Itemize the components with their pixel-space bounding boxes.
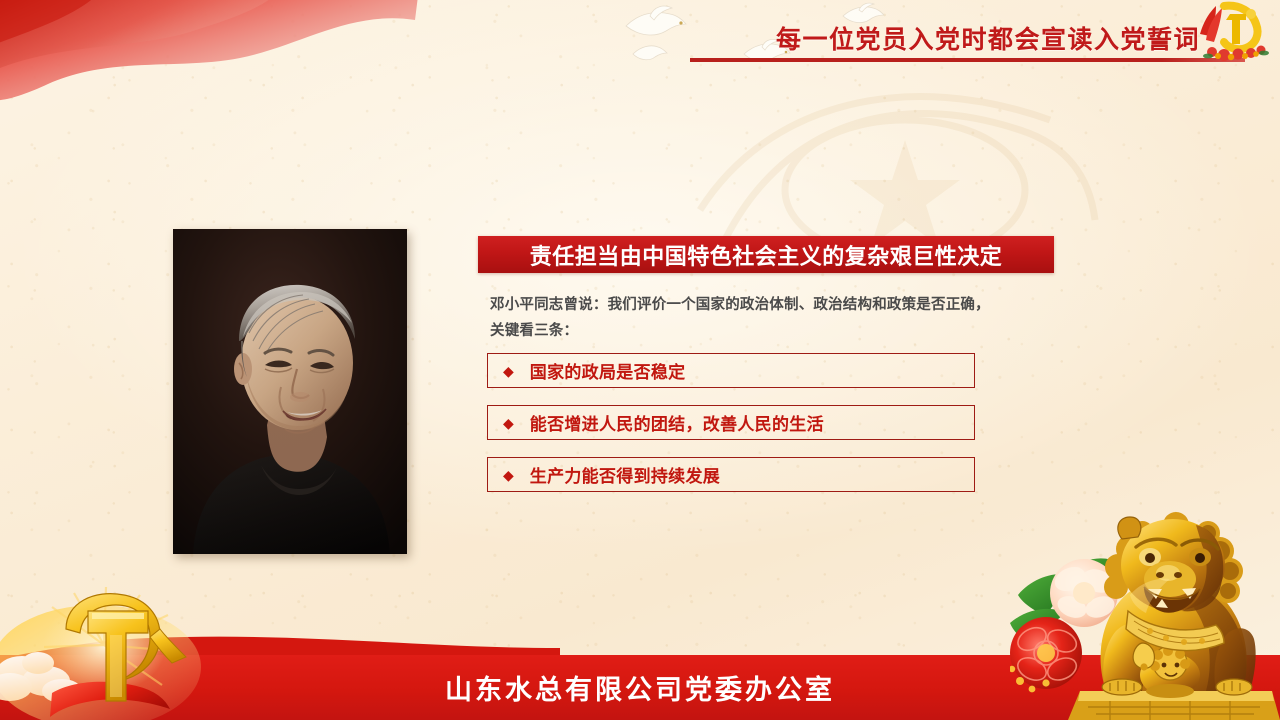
bullet-item[interactable]: ◆ 能否增进人民的团结，改善人民的生活 — [487, 405, 975, 440]
footer-organization-name: 山东水总有限公司党委办公室 — [0, 655, 1280, 720]
header-title: 每一位党员入党时都会宣读入党誓词 — [700, 20, 1200, 56]
white-dove-icon — [620, 2, 690, 44]
bullet-list: ◆ 国家的政局是否稳定 ◆ 能否增进人民的团结，改善人民的生活 ◆ 生产力能否得… — [487, 353, 975, 509]
body-paragraph: 邓小平同志曾说：我们评价一个国家的政治体制、政治结构和政策是否正确，关键看三条： — [490, 292, 990, 344]
diamond-bullet-icon: ◆ — [503, 364, 514, 378]
bullet-item[interactable]: ◆ 生产力能否得到持续发展 — [487, 457, 975, 492]
bullet-item[interactable]: ◆ 国家的政局是否稳定 — [487, 353, 975, 388]
party-emblem-icon — [1194, 0, 1272, 62]
section-title-text: 责任担当由中国特色社会主义的复杂艰巨性决定 — [530, 239, 1003, 271]
header-divider-rule — [690, 58, 1245, 62]
bullet-item-label: 国家的政局是否稳定 — [530, 358, 686, 383]
diamond-bullet-icon: ◆ — [503, 416, 514, 430]
bullet-item-label: 能否增进人民的团结，改善人民的生活 — [530, 410, 824, 435]
red-flag-wave-icon — [0, 0, 420, 150]
slide-canvas: 每一位党员入党时都会宣读入党誓词 — [0, 0, 1280, 720]
white-dove-icon — [630, 40, 670, 66]
diamond-bullet-icon: ◆ — [503, 468, 514, 482]
portrait-photo-deng-xiaoping — [173, 229, 407, 554]
bullet-item-label: 生产力能否得到持续发展 — [530, 462, 720, 487]
section-title-banner: 责任担当由中国特色社会主义的复杂艰巨性决定 — [478, 236, 1054, 273]
